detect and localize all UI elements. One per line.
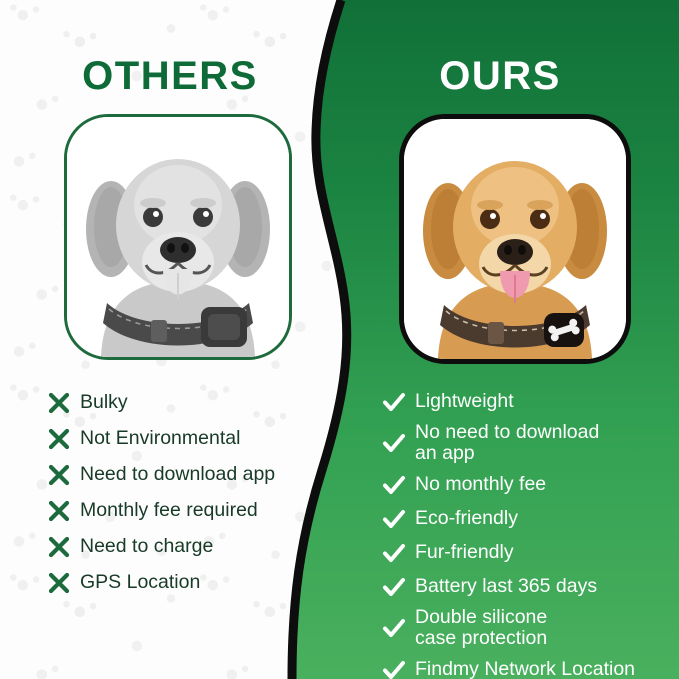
others-title: OTHERS [0, 54, 340, 99]
check-mark-icon [381, 430, 407, 456]
others-dog-photo [64, 114, 292, 360]
list-item: No need to download an app [381, 422, 671, 464]
comparison-infographic: OTHERS OURS [0, 0, 679, 679]
list-item-label: Need to download app [80, 464, 275, 485]
list-item-label: Findmy Network Location [415, 659, 635, 679]
list-item-label: GPS Location [80, 572, 200, 593]
list-item-label: Bulky [80, 392, 128, 413]
list-item: Need to charge [46, 532, 316, 561]
x-mark-icon [46, 462, 72, 488]
x-mark-icon [46, 534, 72, 560]
check-mark-icon [381, 389, 407, 415]
check-mark-icon [381, 615, 407, 641]
list-item-label: No need to download an app [415, 422, 599, 464]
list-item: Bulky [46, 388, 316, 417]
list-item-label: Fur-friendly [415, 542, 514, 563]
list-item-label: Eco-friendly [415, 508, 518, 529]
list-item-label: Monthly fee required [80, 500, 258, 521]
list-item: Lightweight [381, 388, 671, 415]
x-mark-icon [46, 570, 72, 596]
list-item: Eco-friendly [381, 505, 671, 532]
x-mark-icon [46, 426, 72, 452]
x-mark-icon [46, 498, 72, 524]
list-item: GPS Location [46, 568, 316, 597]
list-item: Double silicone case protection [381, 607, 671, 649]
check-mark-icon [381, 657, 407, 679]
list-item: Monthly fee required [46, 496, 316, 525]
list-item: Need to download app [46, 460, 316, 489]
grayscale-dog-illustration [67, 117, 289, 357]
list-item: Battery last 365 days [381, 573, 671, 600]
check-mark-icon [381, 472, 407, 498]
list-item: Fur-friendly [381, 539, 671, 566]
ours-feature-list: Lightweight No need to download an app N… [381, 388, 671, 679]
others-feature-list: Bulky Not Environmental Need to download… [46, 388, 316, 604]
list-item-label: Double silicone case protection [415, 607, 547, 649]
list-item: No monthly fee [381, 471, 671, 498]
ours-dog-photo [399, 114, 631, 364]
list-item: Not Environmental [46, 424, 316, 453]
x-mark-icon [46, 390, 72, 416]
color-dog-illustration [404, 119, 626, 359]
ours-title: OURS [345, 54, 655, 99]
list-item-label: Lightweight [415, 391, 514, 412]
list-item: Findmy Network Location [381, 656, 671, 679]
list-item-label: Battery last 365 days [415, 576, 597, 597]
list-item-label: Not Environmental [80, 428, 240, 449]
list-item-label: Need to charge [80, 536, 213, 557]
list-item-label: No monthly fee [415, 474, 546, 495]
check-mark-icon [381, 506, 407, 532]
check-mark-icon [381, 540, 407, 566]
check-mark-icon [381, 574, 407, 600]
